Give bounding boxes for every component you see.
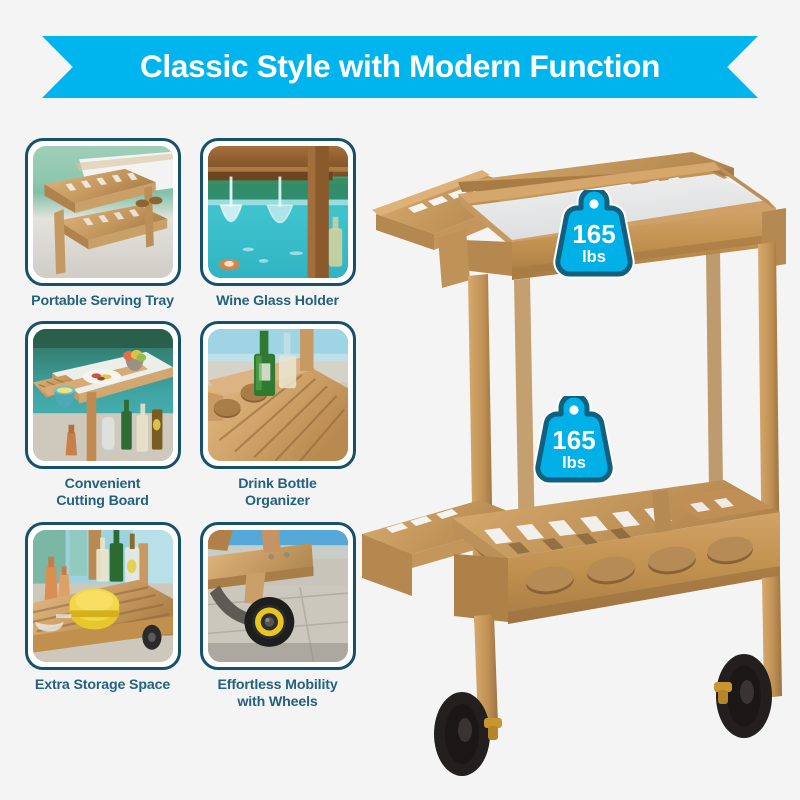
feature-row: Portable Serving Tray: [22, 138, 358, 313]
feature-row: Extra Storage Space: [22, 522, 358, 715]
feature-caption: Drink Bottle Organizer: [238, 476, 317, 514]
feature-grid: Portable Serving Tray: [22, 138, 358, 715]
bottle-organizer-photo-illustration: [208, 329, 348, 461]
badge-unit: lbs: [562, 454, 586, 472]
thumbnail-frame: [200, 138, 356, 286]
thumbnail-frame: [25, 522, 181, 670]
header-banner: Classic Style with Modern Function: [42, 36, 758, 98]
wheel-photo-illustration: [208, 530, 348, 662]
extra-storage-photo-illustration: [33, 530, 173, 662]
thumbnail-drink-bottle-organizer: [208, 329, 348, 461]
thumbnail-portable-serving-tray: [33, 146, 173, 278]
wine-glass-photo-illustration: [208, 146, 348, 278]
badge-value: 165: [572, 219, 615, 249]
thumbnail-frame: [200, 321, 356, 469]
feature-caption: Effortless Mobility with Wheels: [217, 677, 337, 715]
thumbnail-effortless-mobility-with-wheels: [208, 530, 348, 662]
banner-ribbon: Classic Style with Modern Function: [42, 36, 758, 98]
thumbnail-wine-glass-holder: [208, 146, 348, 278]
weight-icon: 165 lbs: [546, 190, 642, 282]
feature-card-effortless-mobility-with-wheels[interactable]: Effortless Mobility with Wheels: [197, 522, 358, 715]
badge-value: 165: [552, 425, 595, 455]
feature-caption: Convenient Cutting Board: [56, 476, 149, 514]
thumbnail-frame: [25, 138, 181, 286]
weight-capacity-badge-top-shelf: 165 lbs: [546, 190, 642, 282]
feature-caption: Extra Storage Space: [35, 677, 170, 715]
feature-card-drink-bottle-organizer[interactable]: Drink Bottle Organizer: [197, 321, 358, 514]
thumbnail-frame: [25, 321, 181, 469]
thumbnail-frame: [200, 522, 356, 670]
feature-card-portable-serving-tray[interactable]: Portable Serving Tray: [22, 138, 183, 313]
weight-capacity-badge-bottom-shelf: 165 lbs: [526, 396, 622, 488]
feature-caption: Portable Serving Tray: [31, 293, 174, 313]
thumbnail-extra-storage-space: [33, 530, 173, 662]
weight-icon: 165 lbs: [526, 396, 622, 488]
feature-card-convenient-cutting-board[interactable]: Convenient Cutting Board: [22, 321, 183, 514]
badge-unit: lbs: [582, 248, 606, 266]
infographic-page: Classic Style with Modern Function: [0, 0, 800, 800]
feature-card-wine-glass-holder[interactable]: Wine Glass Holder: [197, 138, 358, 313]
page-title: Classic Style with Modern Function: [140, 48, 660, 87]
feature-row: Convenient Cutting Board: [22, 321, 358, 514]
feature-caption: Wine Glass Holder: [216, 293, 339, 313]
thumbnail-convenient-cutting-board: [33, 329, 173, 461]
cutting-board-photo-illustration: [33, 329, 173, 461]
feature-card-extra-storage-space[interactable]: Extra Storage Space: [22, 522, 183, 715]
serving-tray-photo-illustration: [33, 146, 173, 278]
